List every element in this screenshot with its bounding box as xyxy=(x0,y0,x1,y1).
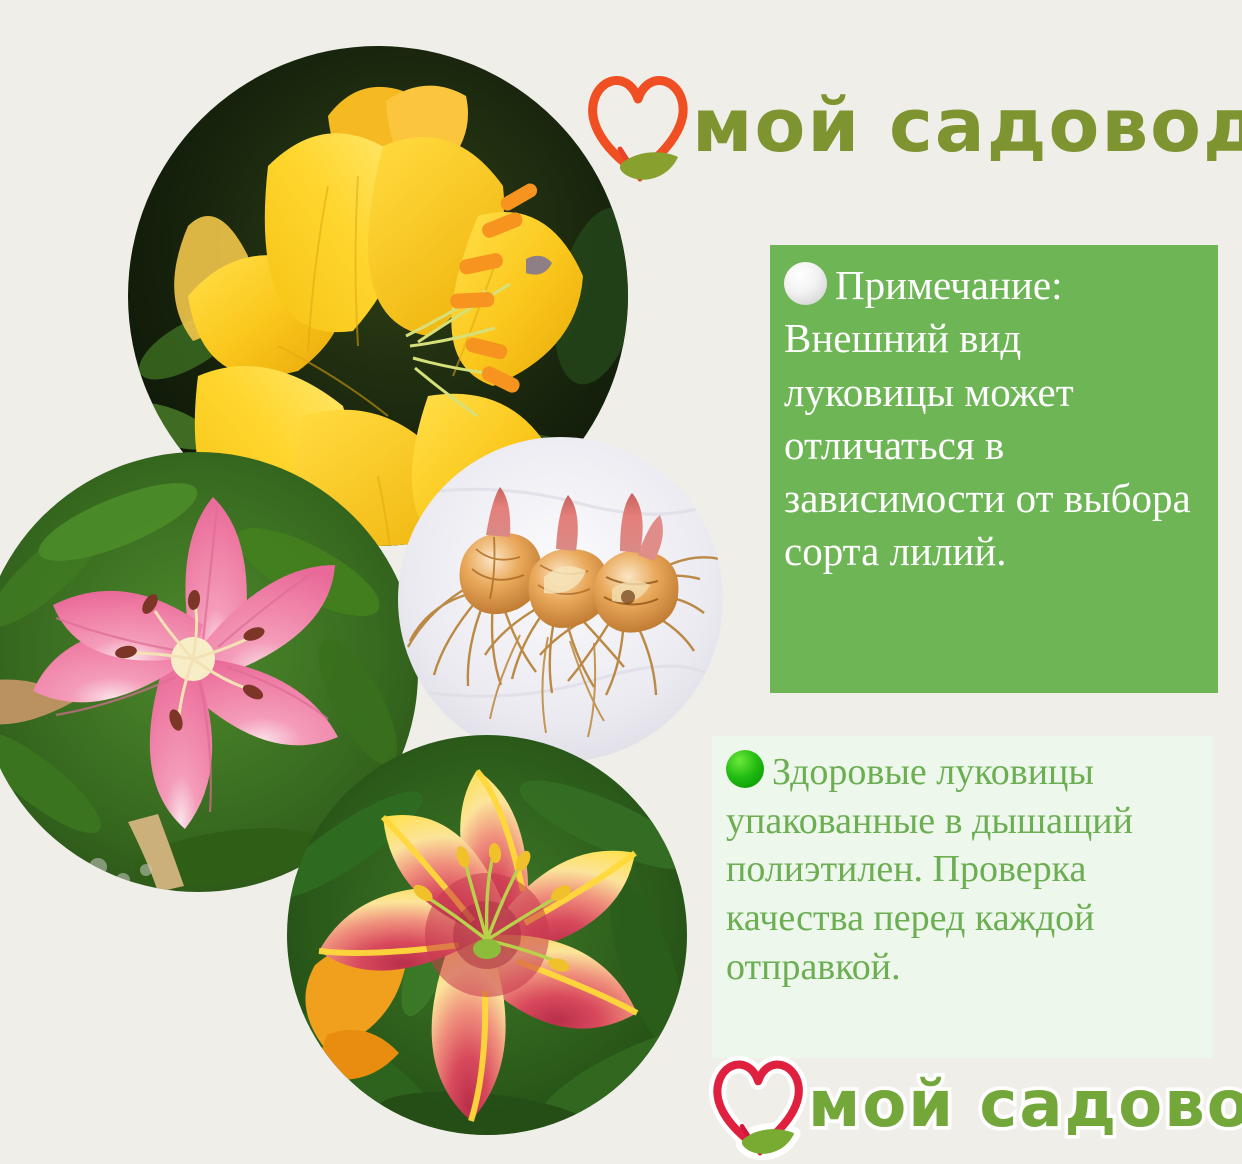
note-box-primary: Примечание: Внешний вид луковицы может о… xyxy=(770,245,1218,693)
brand-wordmark-bottom: мой садовод xyxy=(808,1073,1242,1137)
note-primary-heading: Примечание: xyxy=(835,262,1062,308)
heart-leaf-icon xyxy=(580,61,700,191)
photo-red-lily xyxy=(287,735,687,1135)
note-primary-body: Внешний вид луковицы может отличаться в … xyxy=(784,315,1191,574)
heart-leaf-icon xyxy=(706,1047,814,1163)
note-box-secondary: Здоровые луковицы упакованные в дышащий … xyxy=(712,736,1213,1058)
note-secondary-text: Здоровые луковицы упакованные в дышащий … xyxy=(726,748,1197,991)
photo-bulbs xyxy=(398,437,723,762)
green-circle-bullet-icon xyxy=(726,750,764,788)
brand-logo-top[interactable]: мой садовод xyxy=(580,58,1220,193)
note-primary-text: Примечание: Внешний вид луковицы может о… xyxy=(784,259,1198,579)
brand-logo-bottom[interactable]: мой садовод xyxy=(706,1046,1226,1164)
promo-canvas: мой садовод Примечание: Внешний вид луко… xyxy=(0,0,1242,1164)
white-circle-bullet-icon xyxy=(784,262,827,305)
note-secondary-body: Здоровые луковицы упакованные в дышащий … xyxy=(726,751,1133,988)
brand-wordmark-top: мой садовод xyxy=(692,89,1242,163)
